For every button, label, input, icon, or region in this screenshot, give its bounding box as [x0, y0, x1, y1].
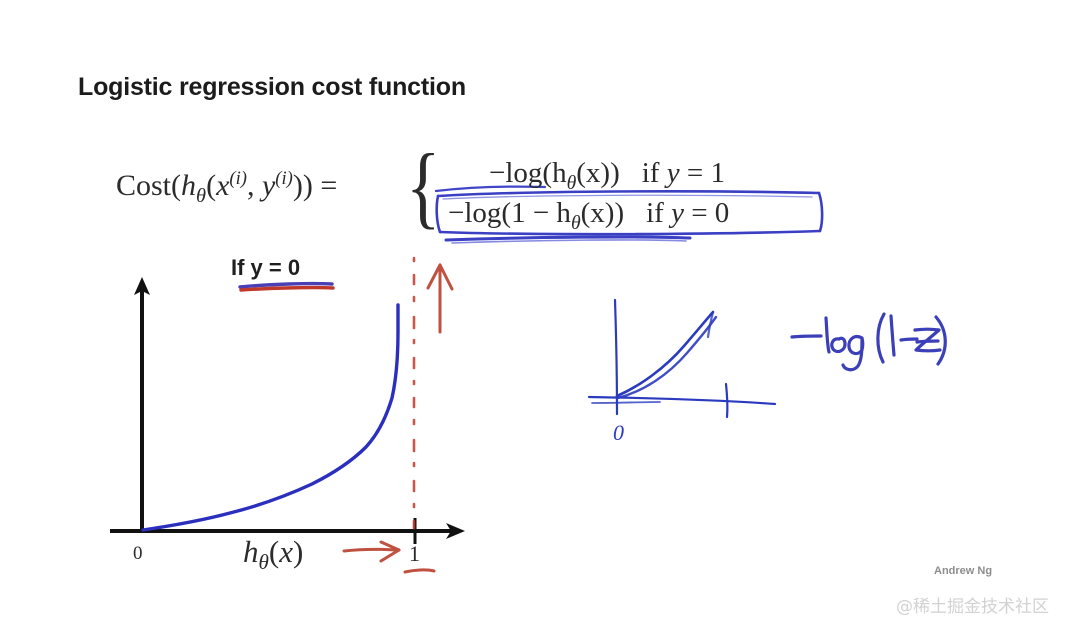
if-y-zero-underline — [240, 284, 333, 290]
lhs-inner-close-paren: ) — [293, 169, 303, 202]
y-symbol: y — [262, 169, 275, 202]
sketch-origin-label: 0 — [613, 420, 624, 446]
if-y-equals-zero-label: If y = 0 — [231, 255, 300, 281]
case-row-y-equals-1: −log(hθ(x))if y = 1 — [489, 157, 725, 195]
x-symbol: x — [216, 169, 229, 202]
lhs-close-paren: ) — [303, 169, 313, 202]
one-label-underline — [405, 570, 434, 572]
cost-function-lhs: Cost(hθ(x(i), y(i))) = — [116, 168, 337, 208]
x-axis-x-symbol: x — [279, 534, 293, 569]
cases-curly-brace: { — [406, 140, 440, 232]
x-axis-tick-label-0: 0 — [133, 543, 143, 565]
x-axis-title: hθ(x) — [243, 534, 303, 575]
case-1-if: if — [642, 157, 667, 189]
x-axis-tick-label-1: 1 — [409, 541, 420, 567]
plot-axes — [110, 277, 465, 544]
case-2-underline — [446, 237, 690, 243]
cost-text: Cost — [116, 169, 171, 202]
handdrawn-sketch — [589, 300, 775, 417]
pointer-arrow-to-one — [344, 542, 399, 561]
site-watermark: @稀土掘金技术社区 — [896, 592, 1049, 617]
case-row-y-equals-0: −log(1 − hθ(x))if y = 0 — [448, 197, 729, 235]
case-2-expression: −log(1 − h — [448, 197, 571, 229]
upward-arrow-annotation — [428, 265, 452, 332]
case-1-condition-rest: = 1 — [680, 157, 725, 189]
case-1-condition-var: y — [667, 157, 680, 189]
case-1-expression: −log(h — [489, 157, 567, 189]
h-symbol: h — [181, 169, 196, 202]
lhs-comma: , — [247, 169, 262, 202]
lhs-equals: = — [313, 169, 337, 202]
handwritten-neg-log-formula — [792, 314, 945, 370]
lhs-inner-open-paren: ( — [206, 169, 216, 202]
page-title: Logistic regression cost function — [78, 73, 466, 102]
x-axis-open-paren: ( — [269, 534, 279, 569]
x-superscript: (i) — [229, 168, 247, 189]
author-credit: Andrew Ng — [934, 565, 992, 577]
slide-canvas: Logistic regression cost function Cost(h… — [0, 0, 1078, 634]
case-1-expression-tail: (x)) — [576, 157, 619, 189]
x-axis-h-symbol: h — [243, 534, 259, 569]
theta-symbol: θ — [196, 185, 206, 207]
cost-curve — [143, 305, 398, 530]
case-2-condition-rest: = 0 — [684, 197, 729, 229]
case-1-theta: θ — [567, 172, 577, 194]
case-2-expression-tail: (x)) — [581, 197, 624, 229]
x-axis-theta-symbol: θ — [259, 550, 269, 574]
x-axis-close-paren: ) — [293, 534, 303, 569]
case-2-condition-var: y — [671, 197, 684, 229]
y-superscript: (i) — [275, 168, 293, 189]
lhs-open-paren: ( — [171, 169, 181, 202]
case-2-if: if — [646, 197, 671, 229]
case-2-theta: θ — [571, 212, 581, 234]
